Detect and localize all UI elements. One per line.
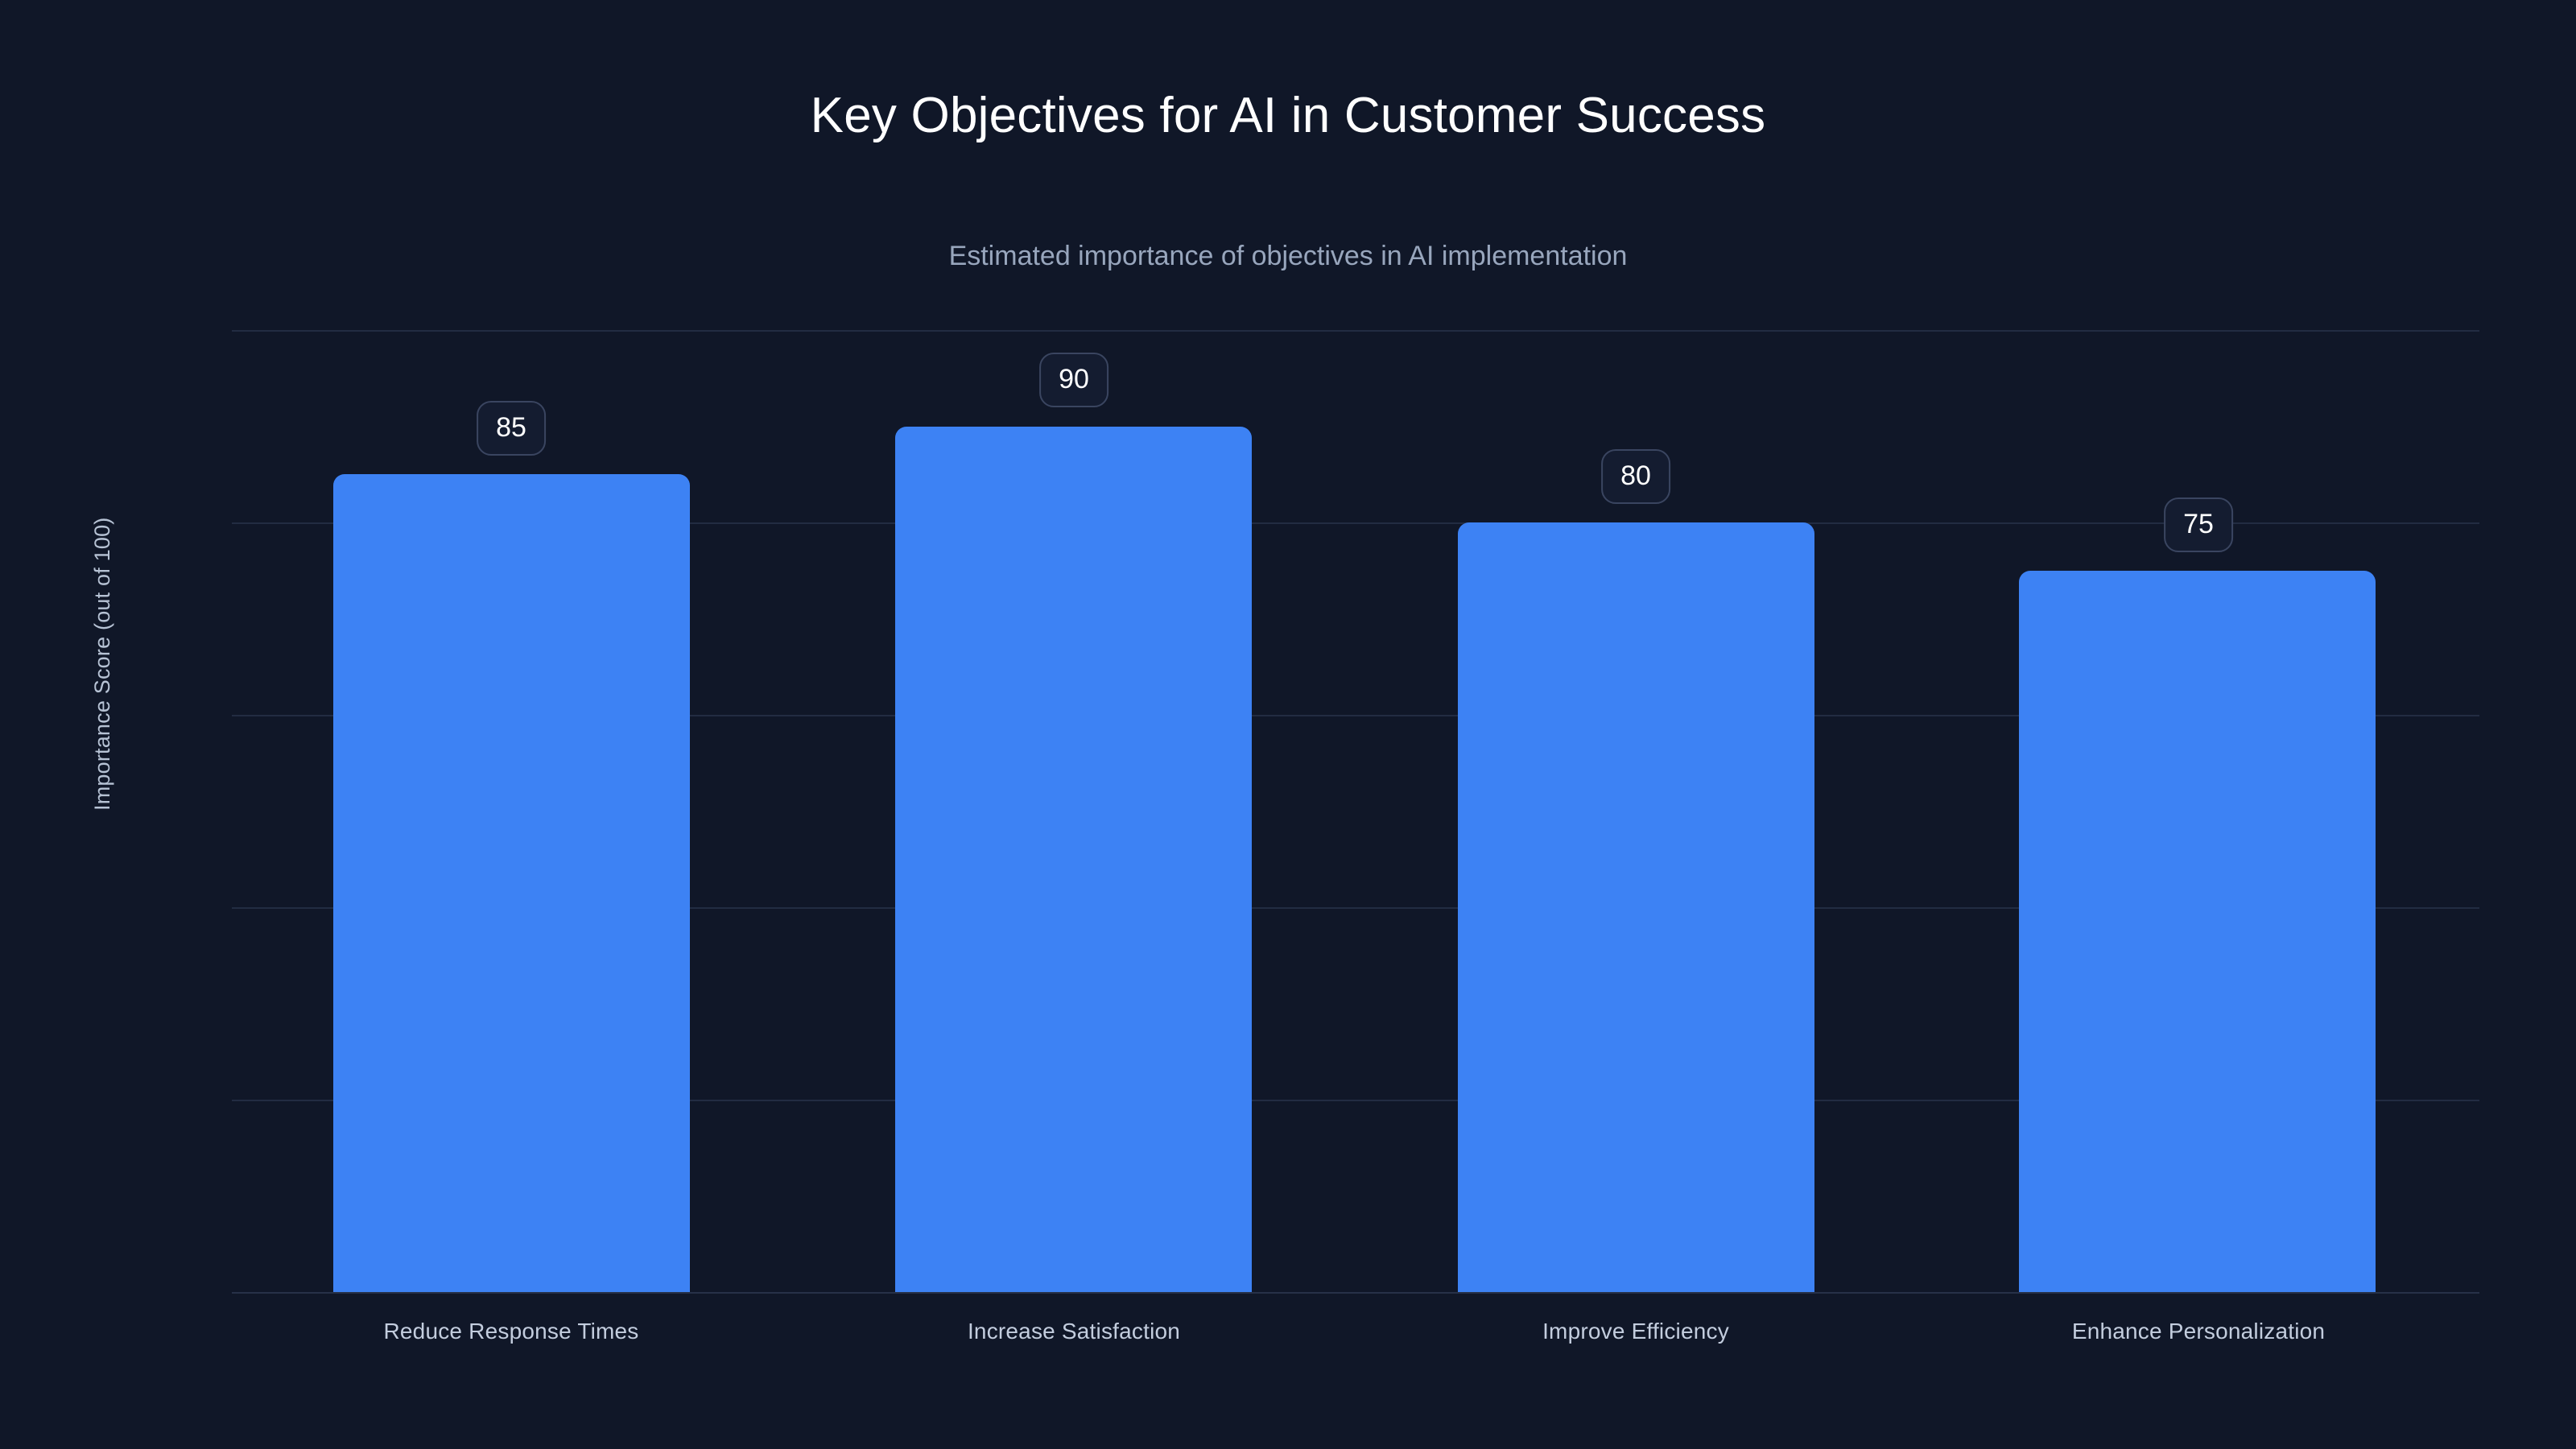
gridline-0 [232,1292,2479,1294]
page-title: Key Objectives for AI in Customer Succes… [0,89,2576,143]
x-tick-label-improve-efficiency: Improve Efficiency [1542,1319,1729,1344]
value-badge-improve-efficiency: 80 [1601,449,1670,504]
chart-canvas: Key Objectives for AI in Customer Succes… [0,0,2576,1449]
bar-reduce-response-times[interactable] [333,474,690,1292]
x-tick-label-reduce-response-times: Reduce Response Times [383,1319,638,1344]
x-tick-label-enhance-personalization: Enhance Personalization [2072,1319,2325,1344]
value-badge-reduce-response-times: 85 [477,401,546,456]
y-axis-title: Importance Score (out of 100) [90,518,115,811]
value-badge-increase-satisfaction: 90 [1039,353,1108,407]
bar-improve-efficiency[interactable] [1458,522,1814,1292]
bar-increase-satisfaction[interactable] [895,427,1252,1293]
chart-subtitle: Estimated importance of objectives in AI… [0,242,2576,271]
bar-slot-reduce-response-times [333,330,690,1292]
x-tick-label-increase-satisfaction: Increase Satisfaction [968,1319,1180,1344]
bar-enhance-personalization[interactable] [2019,571,2376,1292]
bar-slot-increase-satisfaction [895,330,1252,1292]
value-badge-enhance-personalization: 75 [2164,497,2233,552]
bar-slot-enhance-personalization [2019,330,2376,1292]
plot-area [232,330,2479,1292]
